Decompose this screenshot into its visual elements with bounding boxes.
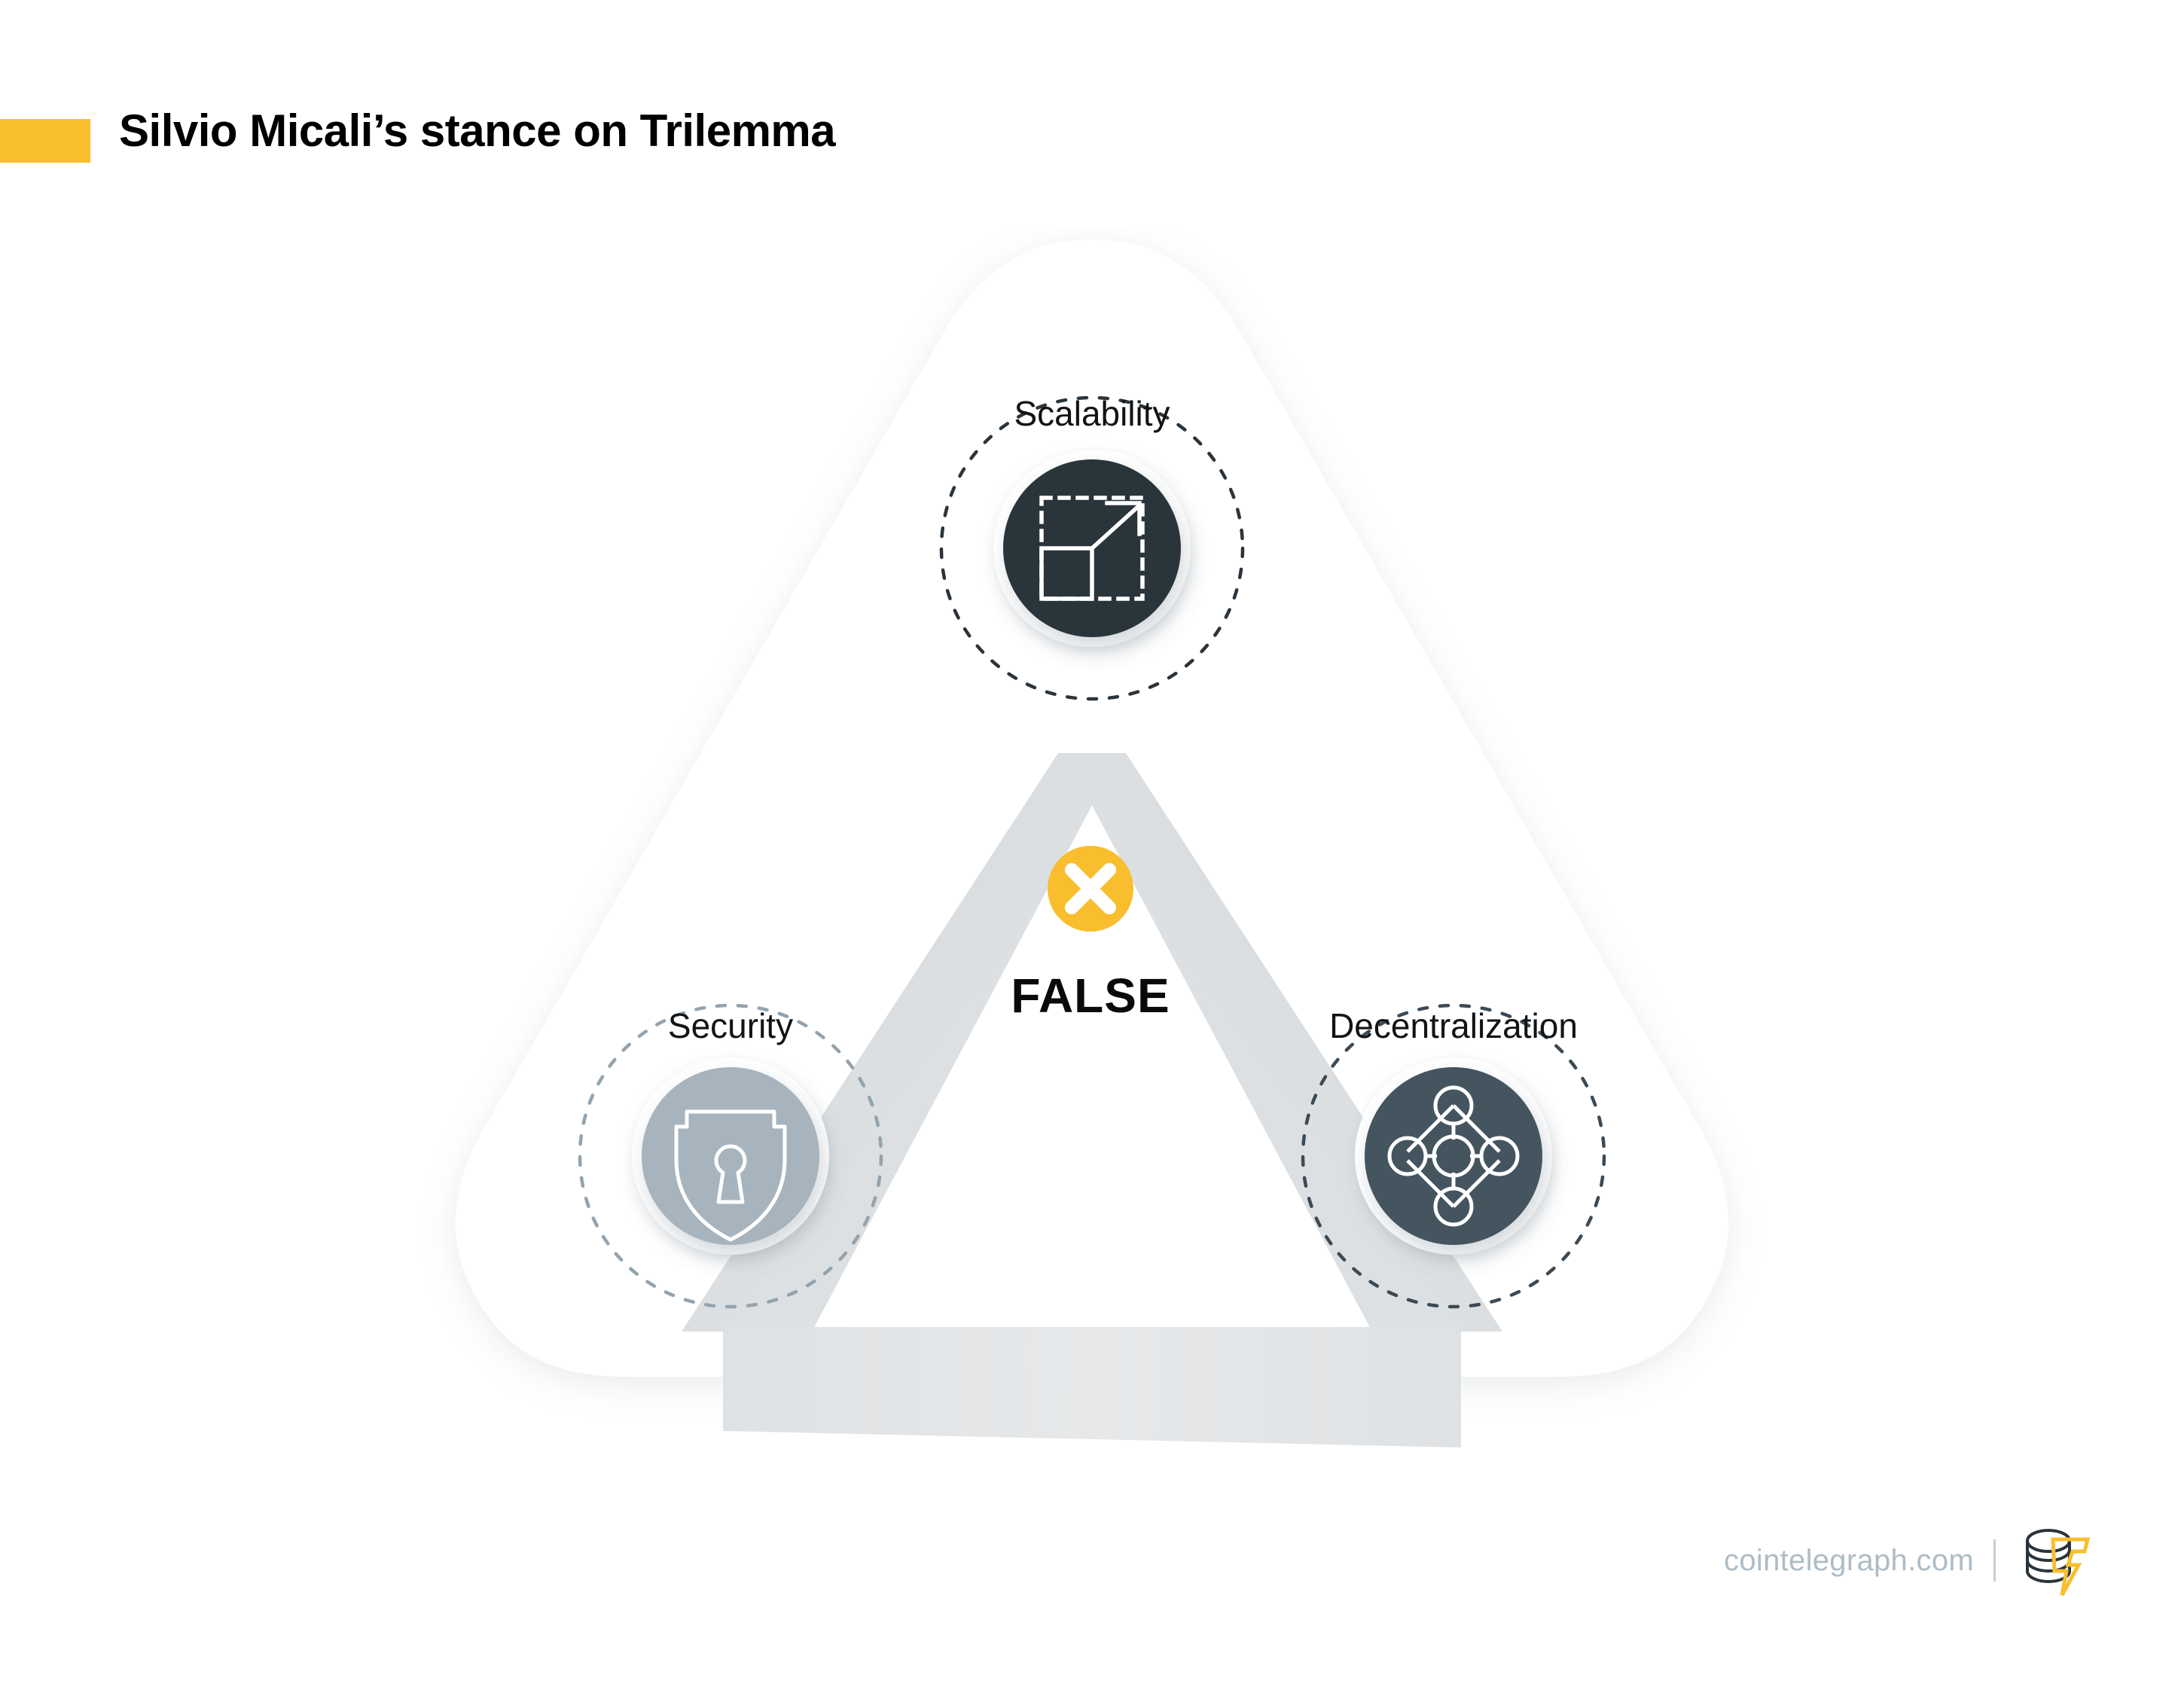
node-label-scalability: Scalability <box>1014 393 1170 434</box>
node-decentralization[interactable] <box>1355 1057 1552 1255</box>
trilemma-diagram: Scalability Security Decentralization FA… <box>0 226 2184 1461</box>
verdict-label: FALSE <box>1011 968 1170 1024</box>
node-security[interactable] <box>632 1057 829 1255</box>
page-header: Silvio Micali’s stance on Trilemma <box>0 0 2184 226</box>
title-accent-bar <box>0 119 90 163</box>
node-scalability[interactable] <box>993 450 1191 647</box>
node-label-security: Security <box>668 1005 793 1046</box>
infographic-page: Silvio Micali’s stance on Trilemma <box>0 0 2184 1684</box>
footer-site-text: cointelegraph.com <box>1724 1544 1974 1578</box>
page-title: Silvio Micali’s stance on Trilemma <box>119 102 835 159</box>
footer-attribution: cointelegraph.com <box>1724 1521 2094 1600</box>
cointelegraph-logo-icon <box>2015 1521 2094 1600</box>
node-label-decentralization: Decentralization <box>1329 1005 1578 1046</box>
beam-security-decentralization <box>723 1327 1461 1448</box>
node-security-disc[interactable] <box>642 1067 819 1245</box>
footer-separator <box>1993 1539 1996 1582</box>
verdict-badge <box>1048 846 1133 932</box>
